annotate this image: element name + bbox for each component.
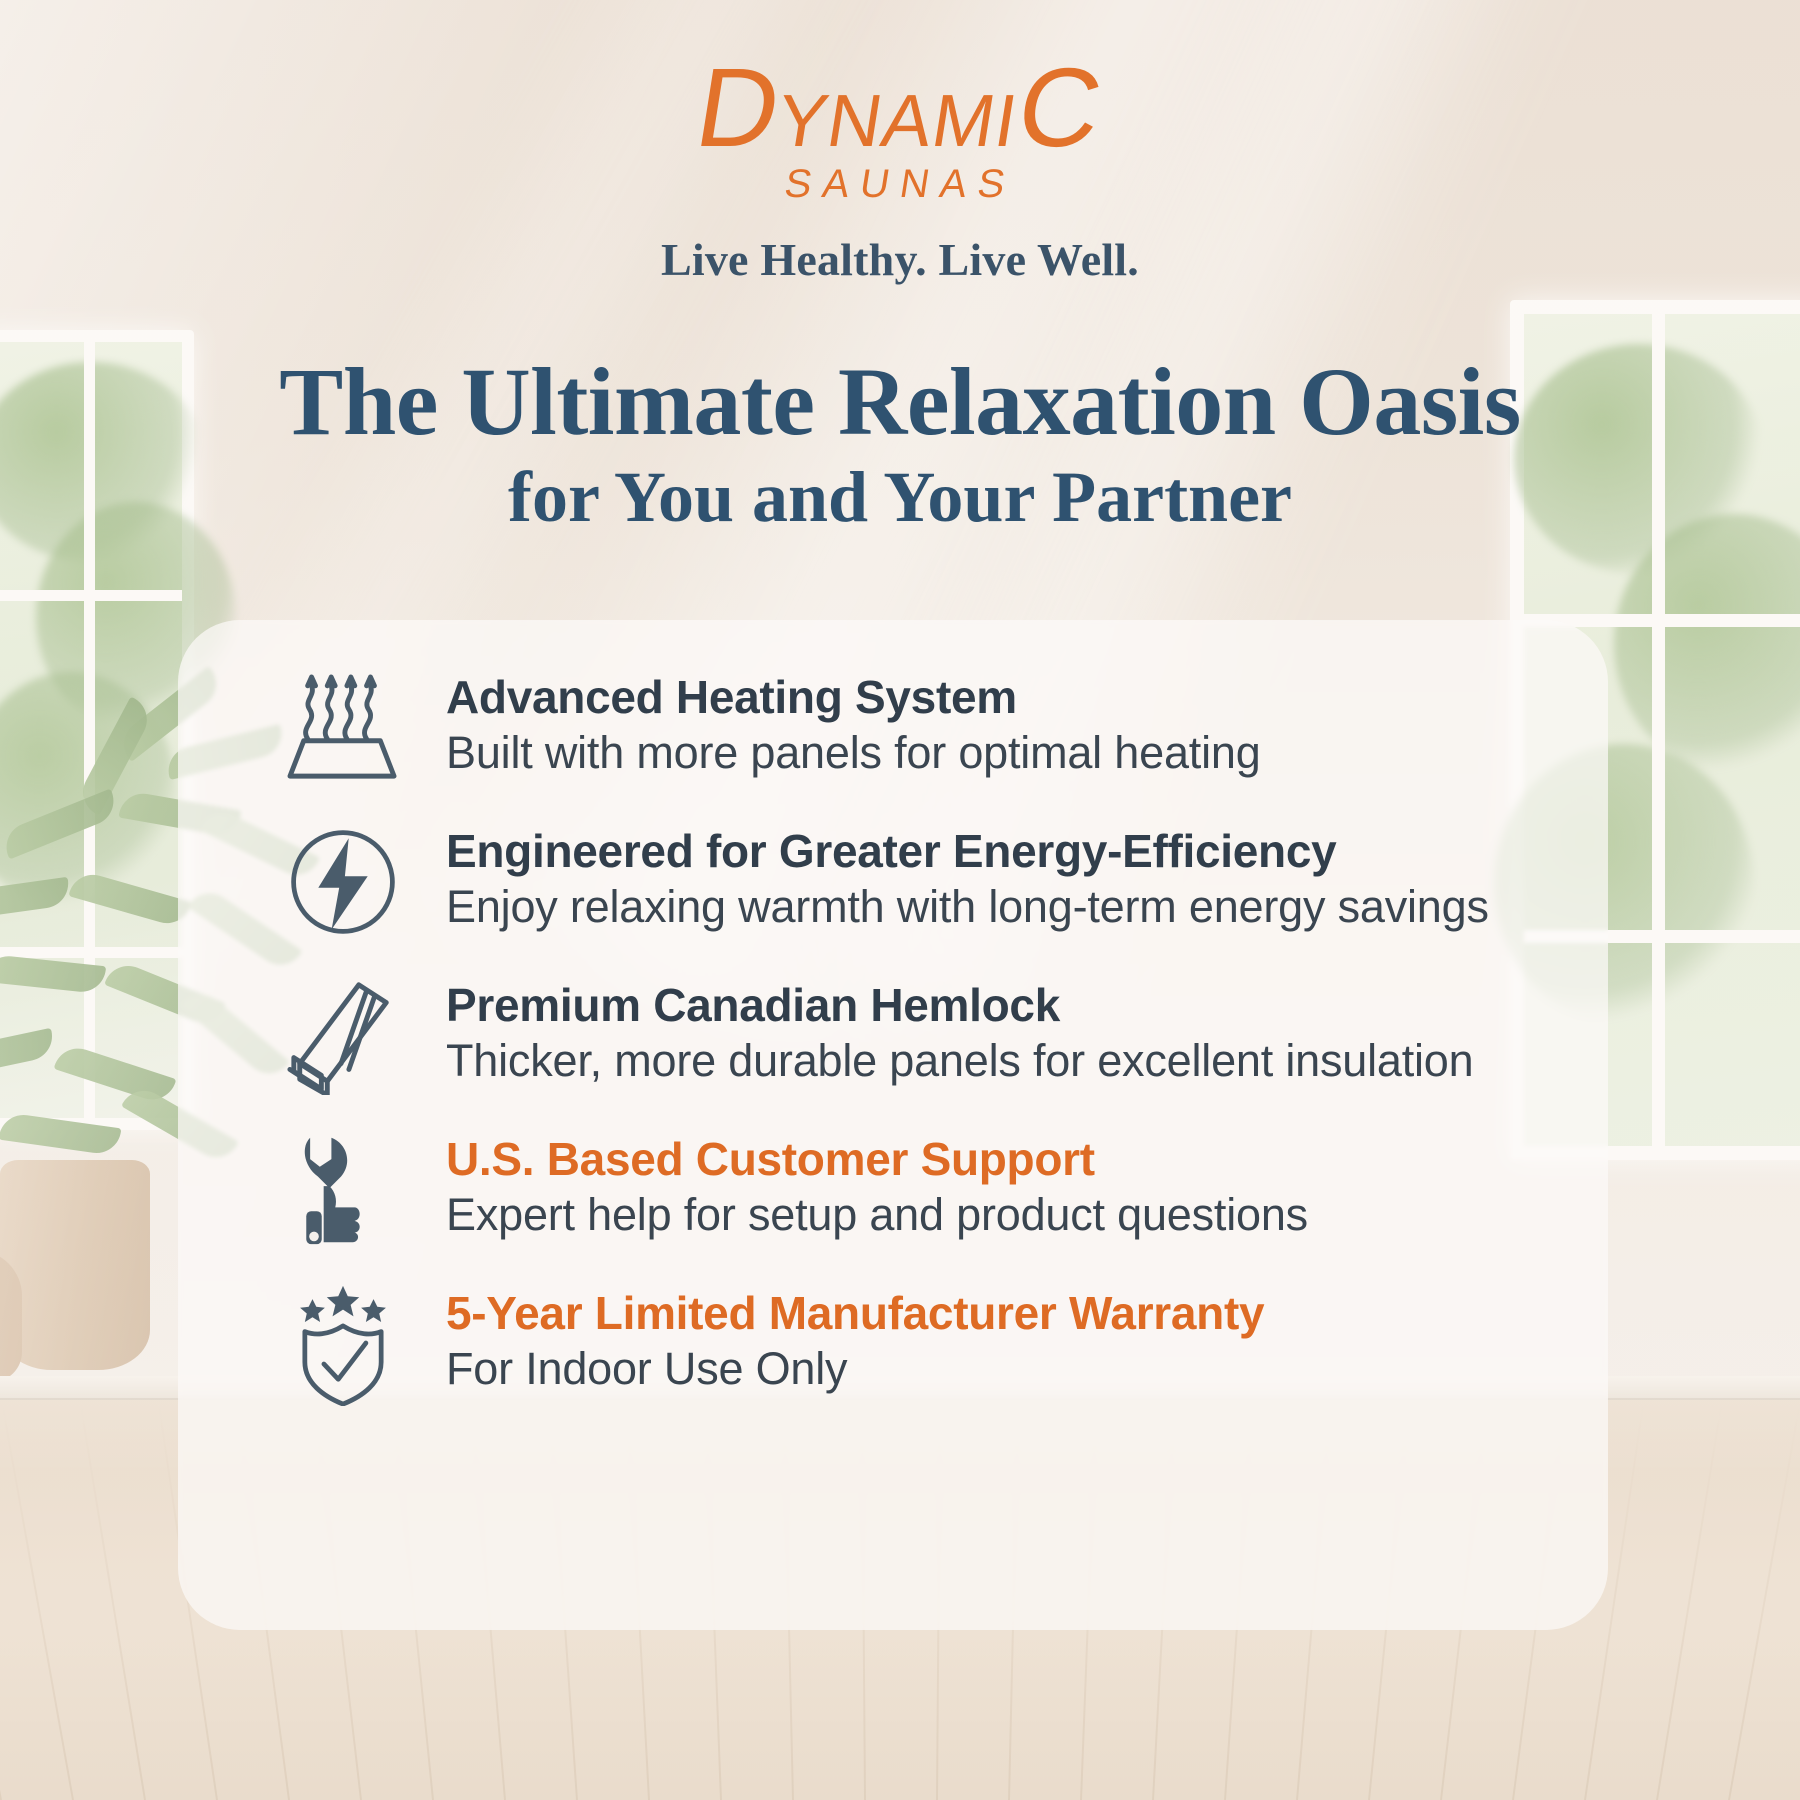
shield-stars-check-icon	[278, 1284, 408, 1404]
feature-item-warranty: 5-Year Limited Manufacturer Warranty For…	[278, 1284, 1558, 1404]
logo-letter-c: C	[1010, 45, 1112, 170]
brand-logo: DYNAMIC SAUNAS	[0, 0, 1800, 207]
feature-title: 5-Year Limited Manufacturer Warranty	[446, 1288, 1558, 1340]
feature-title: Engineered for Greater Energy-Efficiency	[446, 826, 1558, 878]
feature-desc: For Indoor Use Only	[446, 1342, 1558, 1397]
infographic-canvas: DYNAMIC SAUNAS Live Healthy. Live Well. …	[0, 0, 1800, 1800]
feature-item-support: U.S. Based Customer Support Expert help …	[278, 1130, 1558, 1250]
lightning-bolt-icon	[278, 822, 408, 942]
feature-text-energy: Engineered for Greater Energy-Efficiency…	[446, 822, 1558, 934]
feature-item-energy: Engineered for Greater Energy-Efficiency…	[278, 822, 1558, 942]
feature-text-heating: Advanced Heating System Built with more …	[446, 668, 1558, 780]
headline-secondary: for You and Your Partner	[0, 460, 1800, 536]
feature-text-warranty: 5-Year Limited Manufacturer Warranty For…	[446, 1284, 1558, 1396]
feature-desc: Thicker, more durable panels for excelle…	[446, 1034, 1558, 1089]
wood-planks-icon	[278, 976, 408, 1096]
wrench-thumbsup-icon	[278, 1130, 408, 1250]
header-block: DYNAMIC SAUNAS Live Healthy. Live Well. …	[0, 0, 1800, 535]
feature-title: Premium Canadian Hemlock	[446, 980, 1558, 1032]
features-card: Advanced Heating System Built with more …	[178, 620, 1608, 1630]
feature-text-support: U.S. Based Customer Support Expert help …	[446, 1130, 1558, 1242]
feature-desc: Enjoy relaxing warmth with long-term ene…	[446, 880, 1558, 935]
feature-text-hemlock: Premium Canadian Hemlock Thicker, more d…	[446, 976, 1558, 1088]
features-list: Advanced Heating System Built with more …	[278, 668, 1558, 1404]
feature-desc: Built with more panels for optimal heati…	[446, 726, 1558, 781]
brand-logo-subtext: SAUNAS	[781, 162, 1019, 207]
feature-title: Advanced Heating System	[446, 672, 1558, 724]
brand-logo-wordmark: DYNAMIC	[690, 52, 1111, 164]
logo-letters-ynami: YNAMI	[772, 79, 1025, 162]
feature-title: U.S. Based Customer Support	[446, 1134, 1558, 1186]
brand-tagline: Live Healthy. Live Well.	[0, 233, 1800, 286]
feature-item-heating: Advanced Heating System Built with more …	[278, 668, 1558, 788]
headline-primary: The Ultimate Relaxation Oasis	[0, 352, 1800, 452]
plant-pot-large	[0, 1160, 150, 1370]
heat-waves-icon	[278, 668, 408, 788]
feature-item-hemlock: Premium Canadian Hemlock Thicker, more d…	[278, 976, 1558, 1096]
feature-desc: Expert help for setup and product questi…	[446, 1188, 1558, 1243]
